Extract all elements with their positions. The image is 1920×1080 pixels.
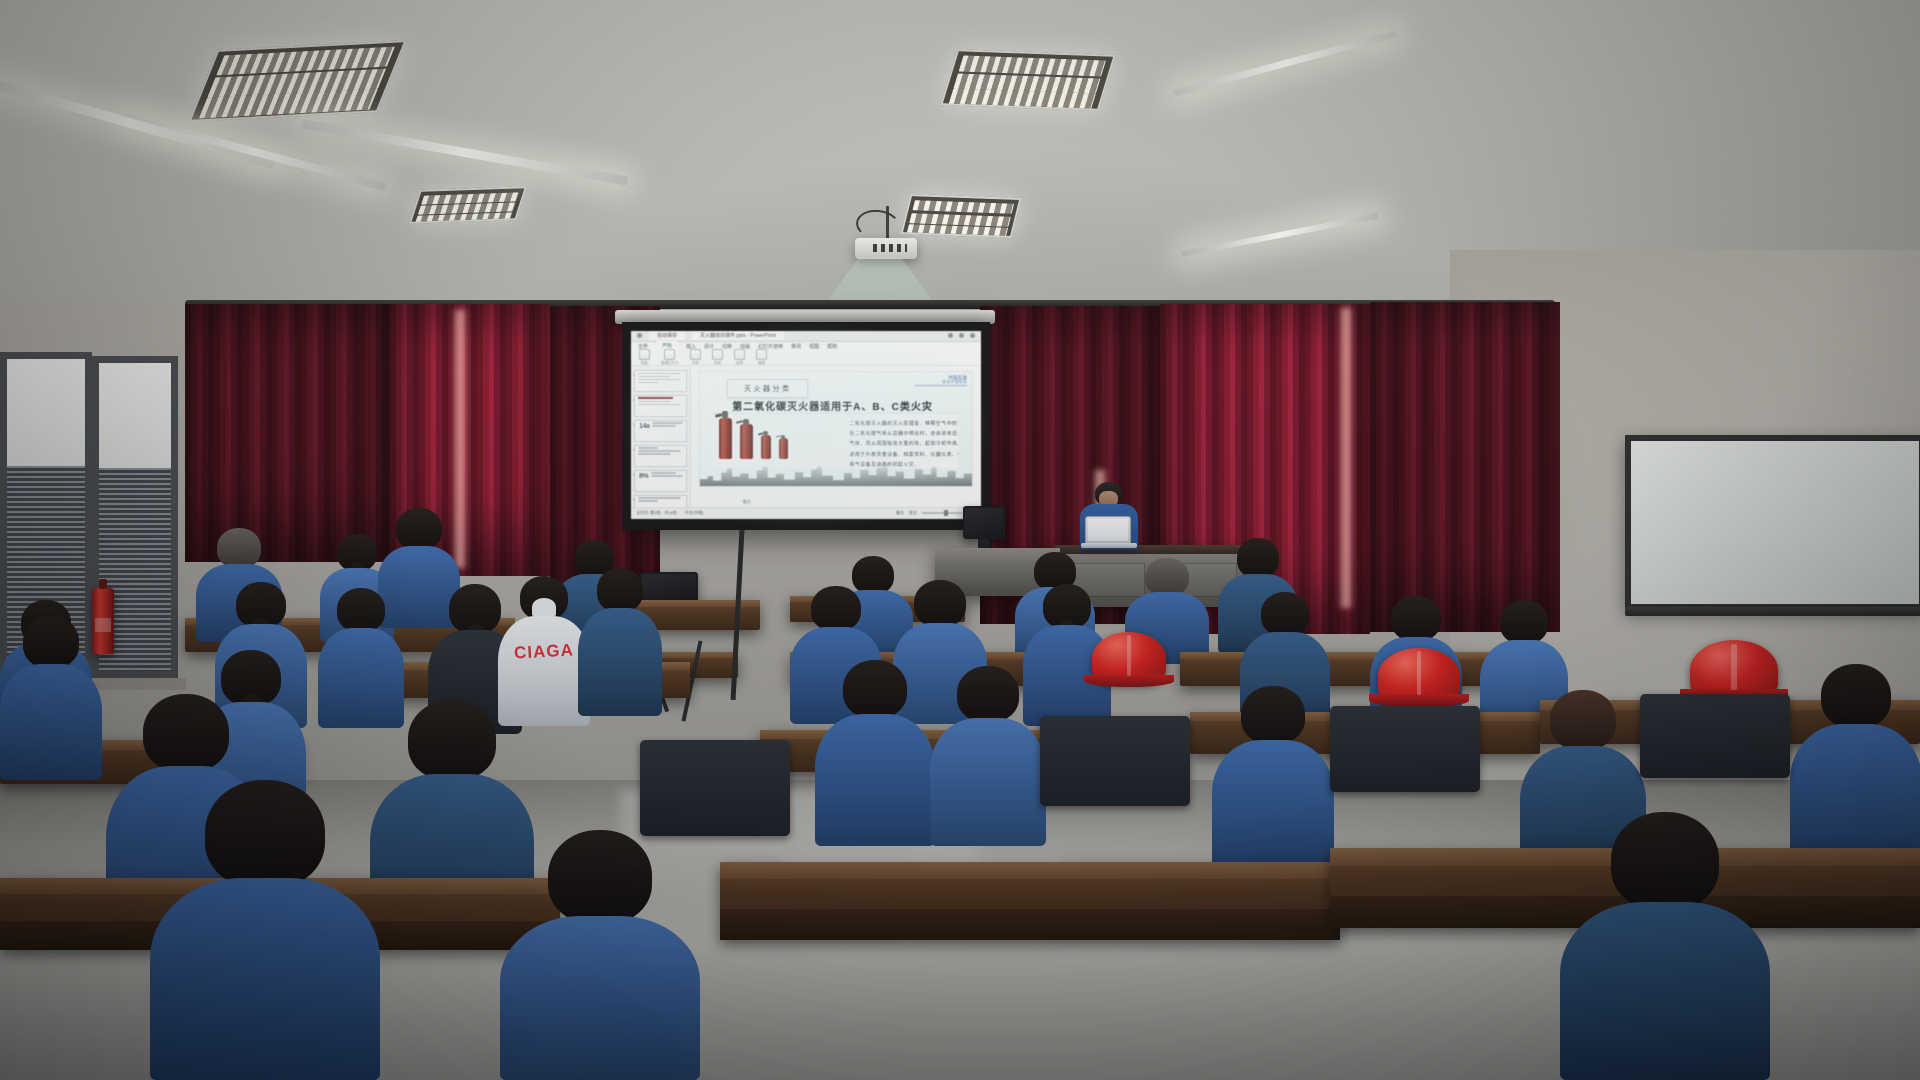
helmet-crest: [1731, 644, 1736, 691]
slide-logo: 中国石油 安全环保培训: [942, 375, 967, 385]
recessed-grille-light: [409, 186, 527, 224]
trainee-head: [957, 666, 1019, 722]
trainee-uniform: [1560, 902, 1770, 1080]
slide-thumbnail[interactable]: 5 8%: [634, 470, 687, 492]
slide-body-line: 电气设备及油类的初起火灾。: [849, 460, 958, 470]
trainee-head: [597, 568, 643, 612]
trainee: [500, 830, 700, 1080]
ribbon-group-paste[interactable]: 粘贴: [639, 349, 650, 366]
thumbnail-big-text: 14a: [635, 421, 649, 441]
trainee-head: [1500, 600, 1548, 644]
slide-body-line: 气体，而从周围吸收大量的热，起到冷却作用。: [849, 439, 958, 449]
extinguisher-image: [761, 435, 771, 459]
projector-vents: [873, 244, 907, 252]
language-indicator[interactable]: 中文(中国): [685, 510, 704, 516]
trainee-uniform: [500, 916, 700, 1080]
trainee-head: [1391, 596, 1441, 641]
trainee: [930, 666, 1046, 846]
notes-button[interactable]: 备注: [896, 510, 904, 516]
ribbon-group-new-slide[interactable]: 新建幻灯片: [661, 349, 679, 366]
ribbon-tab-help[interactable]: 帮助: [827, 343, 837, 350]
ppt-status-bar: 幻灯片 第3张，共16张 中文(中国) 备注 批注 66%: [631, 507, 981, 519]
trainee: [150, 780, 380, 1080]
slide-body-line: 在二氧化碳气体从容器中喷出时，会由液体迅速汽化成: [849, 429, 958, 439]
ceiling-projector: [855, 238, 917, 259]
trainee-uniform: [930, 718, 1046, 846]
trainee-head: [143, 694, 229, 772]
foreground-desk: [720, 862, 1340, 940]
slide-thumbnail-pane[interactable]: 1 2 3 14: [631, 366, 691, 507]
thumbnail-number: 3: [633, 423, 635, 427]
recessed-grille-light: [188, 40, 406, 122]
ppt-workspace: 1 2 3 14: [631, 366, 981, 507]
comments-button[interactable]: 批注: [909, 510, 917, 516]
recessed-grille-light: [901, 194, 1022, 238]
presenter-laptop-screen: [1085, 516, 1131, 544]
helmet-brim: [1084, 675, 1174, 687]
drawing-icon: [734, 349, 745, 360]
trainee-uniform: [578, 608, 662, 716]
close-icon[interactable]: [970, 333, 975, 338]
trainee-head: [217, 528, 261, 568]
window-upper-pane: [99, 363, 171, 468]
ribbon-tab-transitions[interactable]: 切换: [722, 343, 732, 350]
slide-body-text: 二氧化碳灭火器的灭火原理是：稀释空气中的氧气含量， 在二氧化碳气体从容器中喷出时…: [849, 419, 958, 470]
recessed-grille-light: [940, 49, 1115, 111]
ribbon-tab-strip[interactable]: 文件 开始 插入 设计 切换 动画 幻灯片放映 审阅 视图 帮助: [631, 342, 981, 350]
slide-indicator: 幻灯片 第3张，共16张: [637, 510, 677, 516]
trainee-head: [1261, 592, 1309, 636]
safety-helmet: [1378, 648, 1460, 704]
helmet-crest: [1417, 651, 1422, 695]
trainee-head: [337, 588, 385, 632]
trainee-head: [408, 700, 496, 780]
thumbnail-number: 6: [633, 498, 635, 502]
current-slide[interactable]: 中国石油 安全环保培训 灭火器分类 第二氧化碳灭火器适用于A、B、C类火灾: [699, 371, 974, 487]
thumbnail-number: 4: [633, 448, 635, 452]
whiteboard: [1625, 435, 1920, 610]
curtain-left: [185, 304, 390, 562]
trainee-head: [1241, 686, 1305, 744]
fluorescent-light-strip: [1173, 30, 1397, 96]
safety-helmet: [1690, 640, 1778, 700]
ribbon-tab-review[interactable]: 审阅: [791, 343, 801, 350]
trainee: [0, 616, 102, 780]
trainee-head: [811, 586, 861, 631]
slide-thumbnail[interactable]: 6: [634, 495, 687, 507]
paste-icon: [639, 349, 650, 360]
trainee-uniform: [0, 664, 102, 780]
thumbnail-big-text: 8%: [635, 471, 648, 491]
window-upper-pane: [7, 359, 85, 466]
ribbon-tab-view[interactable]: 视图: [809, 343, 819, 350]
slide-headline: 第二氧化碳灭火器适用于A、B、C类火灾: [732, 398, 933, 413]
extinguisher-valve: [99, 579, 108, 588]
trainee-uniform: [815, 714, 935, 846]
font-icon: [690, 349, 701, 360]
app-icon: [637, 333, 642, 338]
trainee-head: [843, 660, 907, 718]
ribbon-group-editing[interactable]: 编辑: [756, 349, 767, 366]
slide-thumbnail[interactable]: 1: [634, 370, 687, 392]
ribbon-group-drawing[interactable]: 绘图: [734, 349, 745, 366]
ribbon-command-groups: 粘贴 新建幻灯片 字体 段落: [631, 350, 981, 365]
monitor-stand: [978, 539, 990, 548]
chair-back: [640, 740, 790, 836]
extinguisher-image: [740, 424, 753, 459]
trainee-head: [1821, 664, 1891, 728]
slide-body-line: 适用于扑救贵重设备、档案资料、仪器仪表、600伏以下: [849, 450, 958, 460]
curtain-right: [1370, 302, 1560, 632]
chair-back: [1640, 694, 1790, 778]
trainee-head: [914, 580, 966, 627]
trainee: [815, 660, 935, 846]
trainee: [578, 568, 662, 716]
chair-back: [1330, 706, 1480, 792]
slide-editing-stage[interactable]: 中国石油 安全环保培训 灭火器分类 第二氧化碳灭火器适用于A、B、C类火灾: [691, 366, 982, 507]
ribbon-group-font[interactable]: 字体: [690, 349, 701, 366]
trainee-head: [548, 830, 652, 924]
fluorescent-light-strip: [1181, 213, 1378, 257]
fluorescent-light-strip: [124, 113, 387, 191]
trainee-uniform: [1790, 724, 1920, 864]
ppt-title-bar: 自动保存 灭火器培训课件.pptx - PowerPoint: [631, 331, 981, 342]
window-controls[interactable]: [948, 333, 975, 338]
slide-thumbnail[interactable]: 2: [634, 395, 687, 417]
slide-body-line: 二氧化碳灭火器的灭火原理是：稀释空气中的氧气含量，: [849, 419, 958, 429]
trainee-uniform: [1212, 740, 1334, 872]
whiteboard-marker-tray: [1625, 607, 1920, 616]
ribbon-group-paragraph[interactable]: 段落: [712, 349, 723, 366]
curtain-light-streak: [1338, 308, 1354, 608]
desk-top-edge: [720, 862, 1340, 879]
chair-back: [1040, 716, 1190, 806]
slide-thumbnail[interactable]: 4: [634, 445, 687, 467]
thumbnail-number: 5: [633, 473, 635, 477]
trainee: [1212, 686, 1334, 872]
ppt-ribbon: 文件 开始 插入 设计 切换 动画 幻灯片放映 审阅 视图 帮助 粘贴: [631, 342, 981, 366]
classroom-scene: 自动保存 灭火器培训课件.pptx - PowerPoint 文件 开始 插入 …: [0, 0, 1920, 1080]
front-monitor: [963, 506, 1005, 539]
maximize-icon[interactable]: [959, 333, 964, 338]
minimize-icon[interactable]: [948, 333, 953, 338]
desk-front-panel: [720, 909, 1340, 940]
trainee-uniform: [150, 878, 380, 1080]
presenter-laptop-base: [1081, 543, 1137, 548]
trainee-head: [23, 616, 79, 668]
slide-thumbnail[interactable]: 3 14a: [634, 420, 687, 442]
extinguisher-image: [719, 418, 732, 459]
zoom-slider[interactable]: [922, 512, 962, 514]
trainee-head: [1237, 538, 1279, 578]
fire-extinguisher-images: [719, 418, 788, 459]
thumbnail-number: 2: [633, 398, 635, 402]
zoom-slider-handle[interactable]: [944, 510, 948, 516]
trainee: [1790, 664, 1920, 864]
helmet-crest: [1127, 635, 1131, 676]
document-title: 灭火器培训课件.pptx - PowerPoint: [692, 331, 784, 340]
trainee-head: [1550, 690, 1616, 750]
trainee-head: [1145, 558, 1189, 596]
face-mask: [532, 598, 556, 616]
projection-screen-surface: 自动保存 灭火器培训课件.pptx - PowerPoint 文件 开始 插入 …: [631, 331, 981, 519]
trainee: [1560, 812, 1770, 1080]
paragraph-icon: [712, 349, 723, 360]
safety-helmet: [1092, 632, 1166, 684]
extinguisher-image: [779, 438, 788, 459]
editing-icon: [756, 349, 767, 360]
trainee-head: [1611, 812, 1719, 910]
slide-header-rule: [915, 385, 967, 386]
trainee-head: [396, 508, 442, 550]
slide-notes-placeholder[interactable]: 备注: [743, 499, 751, 505]
autosave-toggle[interactable]: 自动保存: [649, 331, 685, 340]
hoodie-brand-text: CIAGA: [514, 640, 575, 663]
slide-title-box: 灭火器分类: [727, 379, 809, 398]
trainee-head: [205, 780, 325, 888]
projection-screen-frame: 自动保存 灭火器培训课件.pptx - PowerPoint 文件 开始 插入 …: [622, 322, 990, 530]
thumbnail-number: 1: [633, 373, 635, 377]
new-slide-icon: [664, 349, 675, 360]
